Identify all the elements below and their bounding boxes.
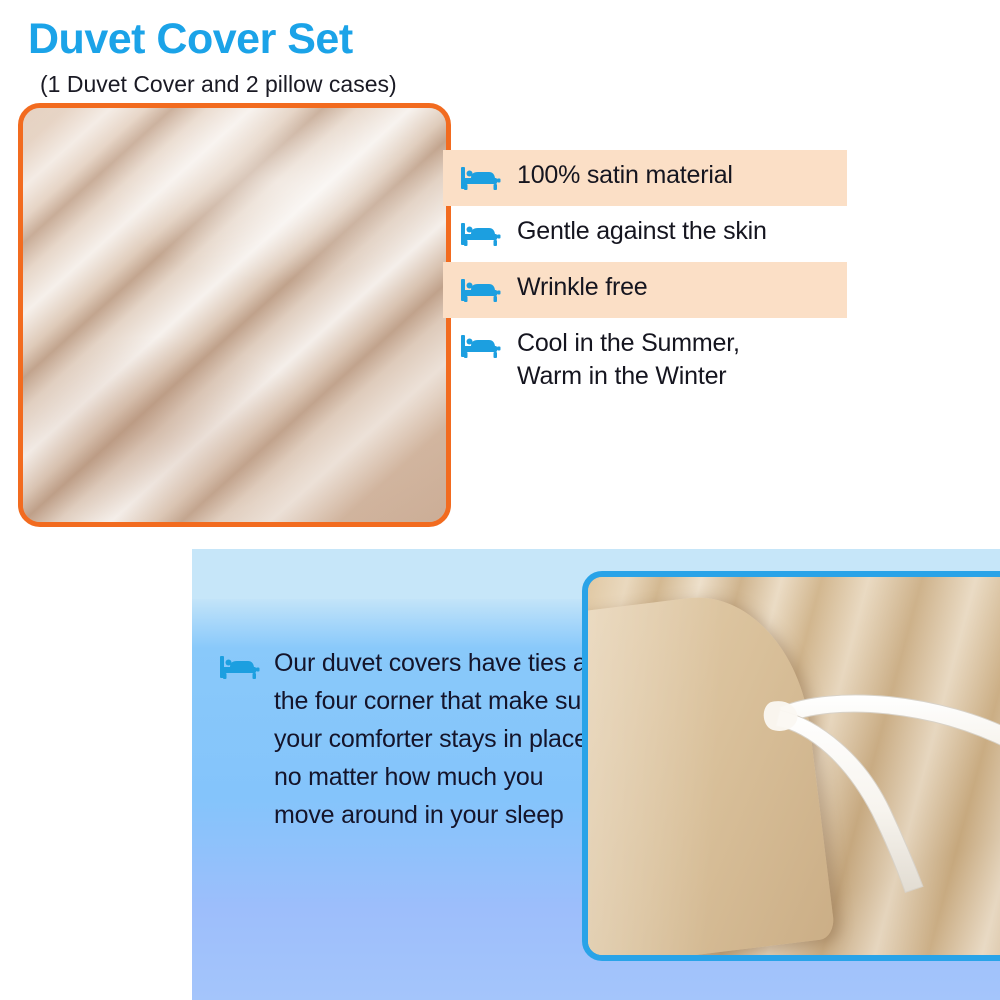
bottom-feature-panel: Our duvet covers have ties at the four c… (192, 549, 1000, 1000)
feature-list: 100% satin material Gentle against the (443, 150, 847, 402)
bed-icon (461, 165, 501, 191)
feature-item-satin-material: 100% satin material (443, 150, 847, 206)
feature-item-cool-warm: Cool in the Summer, Warm in the Winter (443, 318, 847, 402)
bed-icon (461, 221, 501, 247)
panel-text-block: Our duvet covers have ties at the four c… (220, 644, 605, 834)
infographic-canvas: Duvet Cover Set (1 Duvet Cover and 2 pil… (0, 0, 1000, 1000)
page-title: Duvet Cover Set (28, 16, 353, 62)
feature-item-wrinkle-free: Wrinkle free (443, 262, 847, 318)
feature-label: Cool in the Summer, Warm in the Winter (517, 327, 740, 393)
bed-icon (461, 333, 501, 359)
panel-paragraph: Our duvet covers have ties at the four c… (274, 644, 605, 834)
bed-icon (220, 654, 260, 680)
page-subtitle: (1 Duvet Cover and 2 pillow cases) (40, 70, 397, 98)
satin-fabric-sheen (23, 108, 446, 522)
satin-fabric-photo (18, 103, 451, 527)
feature-item-gentle-skin: Gentle against the skin (443, 206, 847, 262)
bed-icon (461, 277, 501, 303)
feature-label: 100% satin material (517, 159, 733, 192)
feature-label: Wrinkle free (517, 271, 648, 304)
feature-label: Gentle against the skin (517, 215, 767, 248)
white-ribbon-tie (588, 577, 1000, 959)
duvet-tie-photo (582, 571, 1000, 961)
